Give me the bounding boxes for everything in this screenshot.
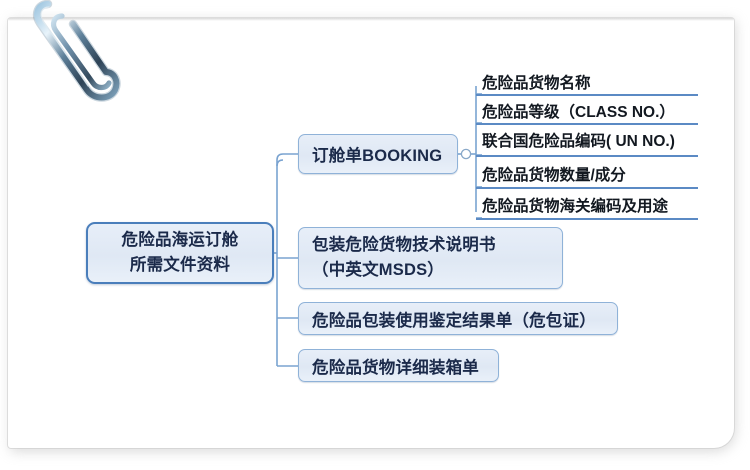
leaf-rule-class-no [476,123,698,125]
leaf-item-hs-code-usage[interactable]: 危险品货物海关编码及用途 [482,195,668,219]
node-msds-label-line-2: （中英文MSDS） [312,258,496,283]
leaf-item-un-no[interactable]: 联合国危险品编码( UN NO.) [482,130,675,154]
node-package-certificate-label: 危险品包装使用鉴定结果单（危包证） [312,307,596,331]
node-msds-label-line-1: 包装危险货物技术说明书 [312,233,496,258]
leaf-rule-hs-code-usage [476,218,698,220]
leaf-rule-quantity-composition [476,187,698,189]
mindmap-node-package-certificate[interactable]: 危险品包装使用鉴定结果单（危包证） [298,302,618,335]
mindmap-node-msds[interactable]: 包装危险货物技术说明书 （中英文MSDS） [298,227,563,289]
mindmap-node-packing-list[interactable]: 危险品货物详细装箱单 [298,349,499,382]
leaf-rule-cargo-name [476,94,698,96]
node-packing-list-label: 危险品货物详细装箱单 [312,354,479,378]
mindmap-root-node[interactable]: 危险品海运订舱 所需文件资料 [86,222,274,284]
leaf-item-cargo-name[interactable]: 危险品货物名称 [482,72,591,96]
mindmap-canvas: 危险品海运订舱 所需文件资料 订舱单BOOKING 危险品货物名称 危险品等级（… [0,0,750,470]
leaf-rule-un-no [476,155,698,157]
mindmap-node-booking[interactable]: 订舱单BOOKING [298,134,458,174]
branch-toggle-node-booking[interactable] [461,149,470,158]
screenshot-stage: 危险品海运订舱 所需文件资料 订舱单BOOKING 危险品货物名称 危险品等级（… [0,0,750,470]
root-label-line-1: 危险品海运订舱 [122,228,239,253]
leaf-item-quantity-composition[interactable]: 危险品货物数量/成分 [482,164,626,188]
root-label-line-2: 所需文件资料 [122,253,239,278]
node-booking-label: 订舱单BOOKING [312,142,442,166]
leaf-item-class-no[interactable]: 危险品等级（CLASS NO.） [482,101,675,125]
